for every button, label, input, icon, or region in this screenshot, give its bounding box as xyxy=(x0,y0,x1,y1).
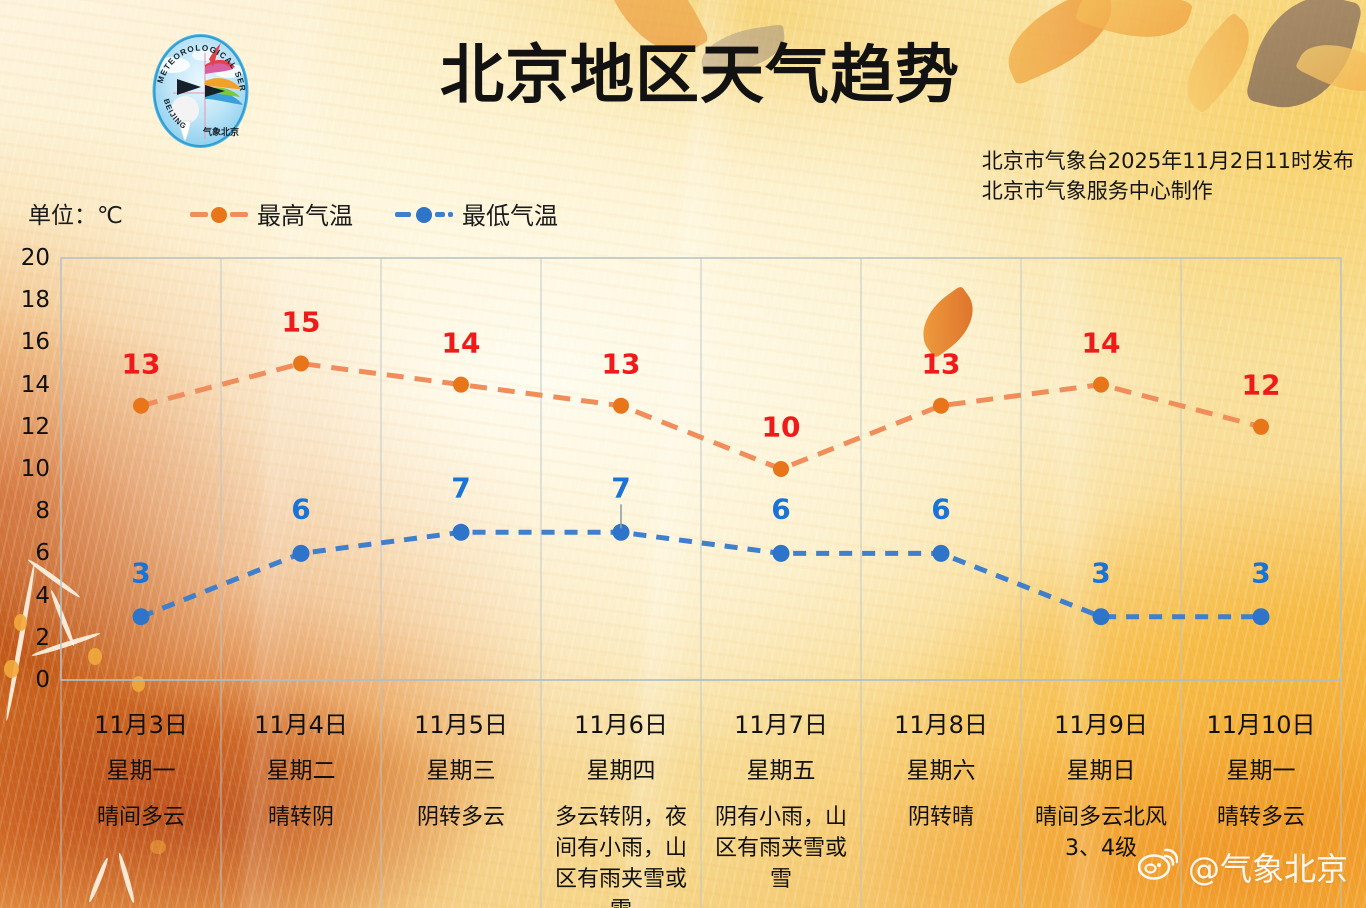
day-column: 11月6日星期四多云转阴，夜间有小雨，山区有雨夹雪或雪 xyxy=(541,692,701,908)
day-condition-label: 晴转阴 xyxy=(229,802,373,833)
legend-label-low: 最低气温 xyxy=(462,196,558,231)
low-temp-value: 6 xyxy=(291,493,310,526)
day-weekday-label: 星期四 xyxy=(549,756,693,786)
day-column: 11月4日星期二晴转阴 xyxy=(221,692,381,908)
day-column: 11月3日星期一晴间多云 xyxy=(61,692,221,908)
low-temp-value: 3 xyxy=(1251,556,1270,589)
day-condition-label: 阴转多云 xyxy=(389,802,533,833)
day-date-label: 11月4日 xyxy=(229,710,373,740)
day-column: 11月5日星期三阴转多云 xyxy=(381,692,541,908)
y-axis-tick-label: 2 xyxy=(10,625,50,651)
day-condition-label: 阴转晴 xyxy=(869,802,1013,833)
day-condition-label: 多云转阴，夜间有小雨，山区有雨夹雪或雪 xyxy=(549,802,693,908)
high-temp-value: 13 xyxy=(602,347,641,380)
day-weekday-label: 星期二 xyxy=(229,756,373,786)
svg-text:气象北京: 气象北京 xyxy=(202,126,239,138)
beijing-meteorological-service-logo: METEOROLOGICAL SERVICE BEIJING 气象北京 xyxy=(143,31,258,151)
weibo-handle: @气象北京 xyxy=(1188,844,1348,890)
low-temp-value: 3 xyxy=(1091,556,1110,589)
day-date-label: 11月5日 xyxy=(389,710,533,740)
high-temp-value: 13 xyxy=(922,347,961,380)
y-axis-tick-label: 6 xyxy=(10,540,50,566)
y-axis-tick-label: 16 xyxy=(10,329,50,355)
y-axis-tick-label: 0 xyxy=(10,667,50,693)
issuer-line-1: 北京市气象台2025年11月2日11时发布 xyxy=(982,146,1354,176)
day-weekday-label: 星期一 xyxy=(1189,756,1333,786)
day-condition-label: 晴间多云 xyxy=(69,802,213,833)
legend-label-high: 最高气温 xyxy=(257,196,353,231)
day-weekday-label: 星期日 xyxy=(1029,756,1173,786)
day-column: 11月8日星期六阴转晴 xyxy=(861,692,1021,908)
unit-label: 单位：℃ xyxy=(28,196,123,230)
day-weekday-label: 星期一 xyxy=(69,756,213,786)
day-date-label: 11月10日 xyxy=(1189,710,1333,740)
weibo-watermark: @气象北京 xyxy=(1138,844,1348,890)
legend-marker-low xyxy=(395,205,453,223)
y-axis-tick-label: 14 xyxy=(10,372,50,398)
page-title: 北京地区天气趋势 xyxy=(440,33,910,119)
low-temp-value: 7 xyxy=(611,472,630,505)
low-temp-value: 7 xyxy=(451,472,470,505)
y-axis-tick-label: 12 xyxy=(10,414,50,440)
low-temp-value: 6 xyxy=(931,493,950,526)
weibo-icon xyxy=(1138,846,1178,888)
day-date-label: 11月8日 xyxy=(869,710,1013,740)
y-axis-tick-label: 18 xyxy=(10,287,50,313)
issuer-line-2: 北京市气象服务中心制作 xyxy=(982,176,1354,206)
legend-item-high-temperature: 最高气温 xyxy=(190,196,353,231)
high-temp-value: 15 xyxy=(282,305,321,338)
day-date-label: 11月7日 xyxy=(709,710,853,740)
high-temp-value: 14 xyxy=(1082,326,1121,359)
day-weekday-label: 星期三 xyxy=(389,756,533,786)
low-temp-value: 6 xyxy=(771,493,790,526)
y-axis-tick-label: 8 xyxy=(10,498,50,524)
day-date-label: 11月9日 xyxy=(1029,710,1173,740)
issuer-info: 北京市气象台2025年11月2日11时发布 北京市气象服务中心制作 xyxy=(982,146,1354,206)
high-temp-value: 12 xyxy=(1242,368,1281,401)
legend-marker-high xyxy=(190,205,248,223)
y-axis-tick-label: 4 xyxy=(10,583,50,609)
legend-item-low-temperature: 最低气温 xyxy=(395,196,558,231)
day-date-label: 11月3日 xyxy=(69,710,213,740)
day-weekday-label: 星期六 xyxy=(869,756,1013,786)
high-temp-value: 13 xyxy=(122,347,161,380)
day-date-label: 11月6日 xyxy=(549,710,693,740)
low-temp-value: 3 xyxy=(131,556,150,589)
y-axis-tick-label: 20 xyxy=(10,245,50,271)
day-column: 11月7日星期五阴有小雨，山区有雨夹雪或雪 xyxy=(701,692,861,908)
y-axis-tick-label: 10 xyxy=(10,456,50,482)
high-temp-value: 10 xyxy=(762,411,801,444)
high-temp-value: 14 xyxy=(442,326,481,359)
day-weekday-label: 星期五 xyxy=(709,756,853,786)
day-condition-label: 晴转多云 xyxy=(1189,802,1333,833)
day-condition-label: 阴有小雨，山区有雨夹雪或雪 xyxy=(709,802,853,895)
